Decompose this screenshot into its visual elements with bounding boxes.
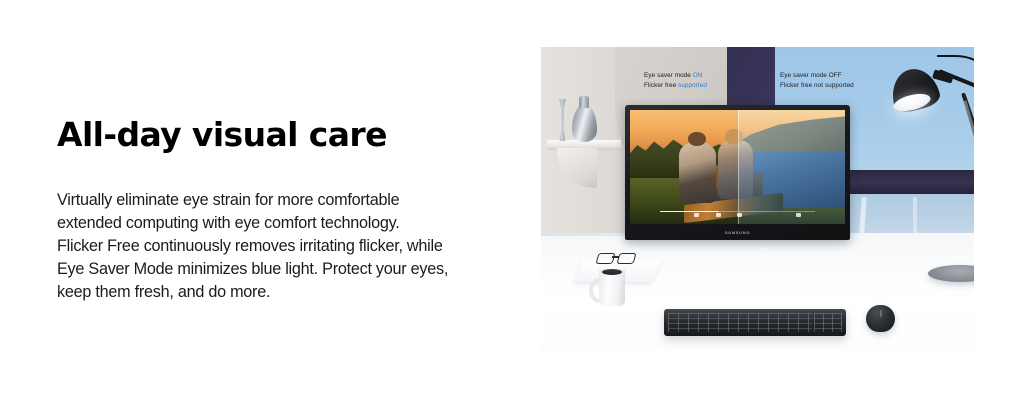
cool-color-filter (738, 110, 846, 224)
body-paragraph: Virtually eliminate eye strain for more … (57, 189, 449, 304)
screen-split-divider (738, 110, 739, 224)
callout-row-flicker: Flicker free supported (644, 81, 707, 91)
callout-row-mode: Eye saver mode ON (644, 71, 707, 81)
callout-eye-saver-on: Eye saver mode ON Flicker free supported (644, 71, 707, 92)
product-feature-banner: All-day visual care Virtually eliminate … (0, 0, 1025, 420)
callout-flicker-value: supported (678, 82, 707, 89)
callout-flicker-value: not supported (814, 82, 854, 89)
keyboard-main-keys (668, 313, 812, 332)
monitor-screen (630, 110, 845, 224)
next-icon (737, 213, 742, 217)
product-photo: SAMSUNG Eye saver mode ON Flicker free s… (541, 47, 974, 351)
fullscreen-icon (796, 213, 801, 217)
silver-vase-round (572, 105, 597, 142)
copy-block: All-day visual care Virtually eliminate … (57, 118, 477, 304)
callout-eye-saver-off: Eye saver mode OFF Flicker free not supp… (780, 71, 854, 92)
screen-half-eye-saver-off (738, 110, 846, 224)
warm-color-filter (630, 110, 738, 224)
monitor: SAMSUNG (625, 105, 850, 240)
eyeglasses-lens-right (616, 253, 636, 264)
callout-flicker-label: Flicker free (780, 82, 812, 89)
play-icon (716, 213, 721, 217)
callout-row-flicker: Flicker free not supported (780, 81, 854, 91)
callout-row-mode: Eye saver mode OFF (780, 71, 854, 81)
callout-mode-value: OFF (829, 72, 842, 79)
samsung-logo: SAMSUNG (725, 230, 750, 235)
page-title: All-day visual care (57, 118, 477, 153)
callout-mode-value: ON (693, 72, 703, 79)
callout-mode-label: Eye saver mode (644, 72, 691, 79)
screen-half-eye-saver-on (630, 110, 738, 224)
mouse (866, 305, 895, 332)
keyboard-numpad (814, 313, 842, 332)
media-progress-bar (660, 211, 815, 212)
callout-mode-label: Eye saver mode (780, 72, 827, 79)
eyeglasses-lens-left (595, 253, 615, 264)
media-playback-controls (660, 209, 815, 218)
callout-flicker-label: Flicker free (644, 82, 676, 89)
coffee-mug (599, 269, 625, 306)
eyeglasses (597, 253, 637, 263)
monitor-brand-strip: SAMSUNG (625, 224, 850, 240)
keyboard (664, 309, 846, 336)
previous-icon (694, 213, 699, 217)
